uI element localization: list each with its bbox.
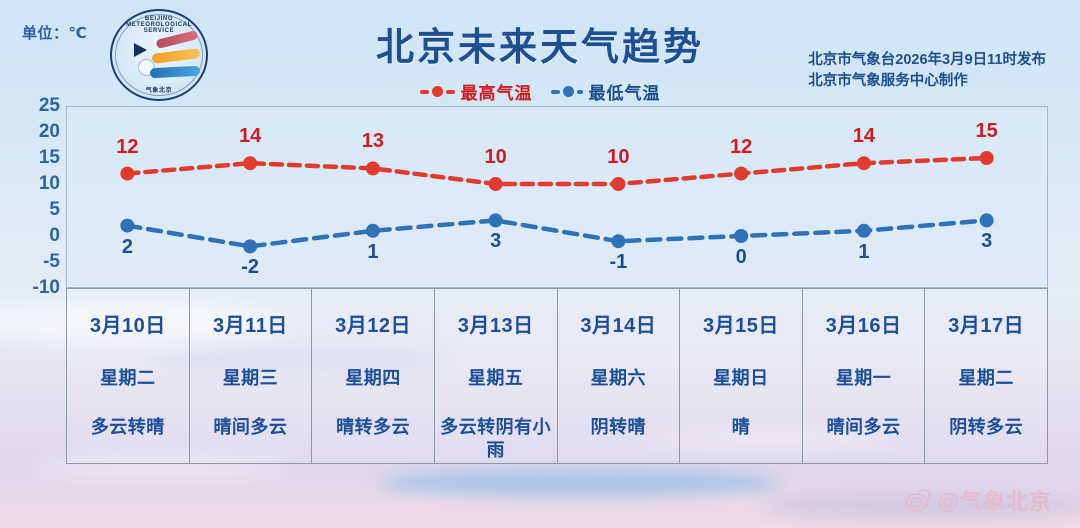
legend-label-high: 最高气温 <box>461 79 533 104</box>
value-label-low: 2 <box>122 236 133 259</box>
forecast-weekday: 星期二 <box>958 364 1014 390</box>
data-point-low <box>120 219 134 233</box>
chart-y-axis: 2520151050-5-10 <box>8 100 60 296</box>
forecast-date: 3月15日 <box>703 309 779 338</box>
chart-series-layer <box>66 106 1048 288</box>
forecast-column[interactable]: 3月15日星期日晴 <box>680 289 803 463</box>
legend-item-high: 最高气温 <box>420 79 533 104</box>
data-point-low <box>366 224 380 238</box>
y-axis-tick: -10 <box>8 277 60 299</box>
data-point-low <box>857 224 871 238</box>
data-point-low <box>243 239 257 253</box>
forecast-condition: 晴转多云 <box>332 416 414 439</box>
value-label-high: 13 <box>362 130 384 153</box>
value-label-low: 3 <box>981 230 992 253</box>
issuer-line-1: 北京市气象台2026年3月9日11时发布 <box>808 50 1046 71</box>
forecast-weekday: 星期四 <box>345 364 401 390</box>
watermark-handle: @气象北京 <box>938 484 1052 516</box>
y-axis-tick: 25 <box>8 95 60 117</box>
value-label-low: 3 <box>490 230 501 253</box>
value-label-low: -1 <box>609 251 627 274</box>
forecast-column[interactable]: 3月12日星期四晴转多云 <box>312 289 435 463</box>
data-point-high <box>120 167 134 181</box>
value-label-high: 15 <box>976 120 998 143</box>
forecast-condition: 阴转多云 <box>945 416 1027 439</box>
data-point-low <box>611 234 625 248</box>
value-label-high: 14 <box>853 125 875 148</box>
data-point-low <box>489 213 503 227</box>
cloud-decoration <box>380 470 780 496</box>
forecast-date: 3月11日 <box>213 309 288 338</box>
y-axis-tick: 5 <box>8 199 60 221</box>
forecast-weekday: 星期五 <box>468 364 524 390</box>
legend-marker-high-icon <box>420 86 455 97</box>
weibo-icon <box>905 489 931 511</box>
forecast-condition: 晴间多云 <box>823 416 905 439</box>
forecast-column[interactable]: 3月16日星期一晴间多云 <box>803 289 926 463</box>
watermark: @气象北京 <box>905 484 1052 516</box>
forecast-weekday: 星期日 <box>713 364 769 390</box>
y-axis-tick: 10 <box>8 173 60 195</box>
forecast-weekday: 星期二 <box>100 364 156 390</box>
forecast-date: 3月10日 <box>90 309 166 338</box>
y-axis-tick: 15 <box>8 147 60 169</box>
value-label-high: 12 <box>730 136 752 159</box>
forecast-date: 3月17日 <box>948 309 1024 338</box>
weather-forecast-infographic: 单位：℃ BEIJING METEOROLOGICAL SERVICE 气象北京… <box>0 0 1080 528</box>
forecast-date: 3月16日 <box>826 309 902 338</box>
data-point-high <box>366 161 380 175</box>
forecast-column[interactable]: 3月11日星期三晴间多云 <box>190 289 313 463</box>
value-label-low: -2 <box>241 256 259 279</box>
legend-item-low: 最低气温 <box>551 79 661 104</box>
y-axis-tick: -5 <box>8 251 60 273</box>
forecast-weekday: 星期六 <box>591 364 647 390</box>
legend-marker-low-icon <box>551 86 583 97</box>
data-point-high <box>857 156 871 170</box>
forecast-column[interactable]: 3月10日星期二多云转晴 <box>67 289 190 463</box>
data-point-low <box>734 229 748 243</box>
y-axis-tick: 0 <box>8 225 60 247</box>
value-label-low: 0 <box>736 246 747 269</box>
forecast-table: 3月10日星期二多云转晴3月11日星期三晴间多云3月12日星期四晴转多云3月13… <box>66 288 1048 464</box>
data-point-high <box>489 177 503 191</box>
forecast-date: 3月13日 <box>458 309 534 338</box>
data-point-high <box>611 177 625 191</box>
forecast-condition: 晴 <box>728 416 755 439</box>
forecast-weekday: 星期三 <box>223 364 279 390</box>
forecast-condition: 多云转阴有小雨 <box>435 416 557 461</box>
value-label-high: 12 <box>116 136 138 159</box>
data-point-high <box>980 151 994 165</box>
data-point-high <box>243 156 257 170</box>
forecast-condition: 阴转晴 <box>587 416 651 439</box>
y-axis-tick: 20 <box>8 121 60 143</box>
forecast-date: 3月12日 <box>335 309 411 338</box>
data-point-low <box>980 213 994 227</box>
chart-legend: 最高气温 最低气温 <box>0 79 1080 104</box>
forecast-date: 3月14日 <box>580 309 656 338</box>
value-label-high: 14 <box>239 125 261 148</box>
data-point-high <box>734 167 748 181</box>
value-label-low: 1 <box>858 241 869 264</box>
forecast-condition: 晴间多云 <box>209 416 291 439</box>
value-label-low: 1 <box>367 241 378 264</box>
forecast-weekday: 星期一 <box>836 364 892 390</box>
value-label-high: 10 <box>485 146 507 169</box>
forecast-condition: 多云转晴 <box>87 416 169 439</box>
value-label-high: 10 <box>607 146 629 169</box>
forecast-column[interactable]: 3月17日星期二阴转多云 <box>925 289 1047 463</box>
forecast-column[interactable]: 3月14日星期六阴转晴 <box>558 289 681 463</box>
forecast-column[interactable]: 3月13日星期五多云转阴有小雨 <box>435 289 558 463</box>
legend-label-low: 最低气温 <box>589 79 661 104</box>
